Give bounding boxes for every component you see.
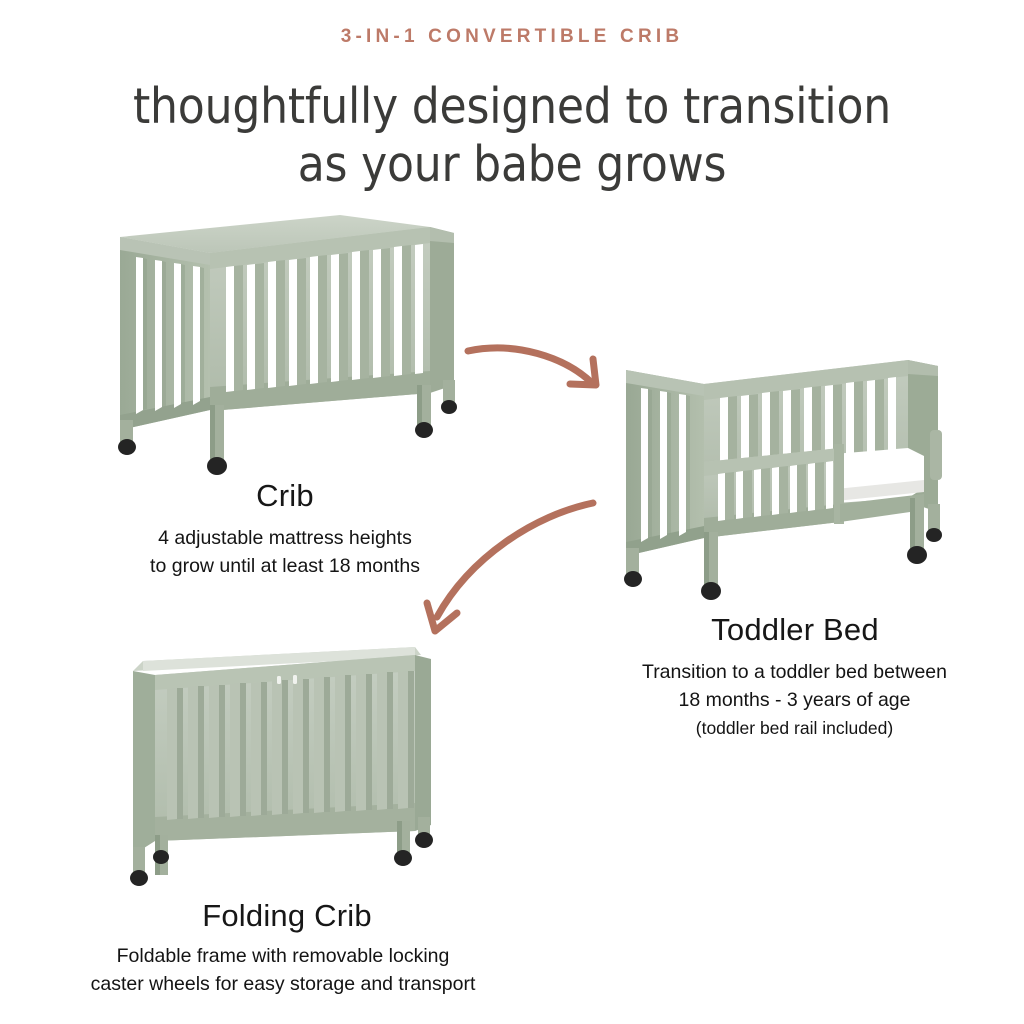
crib-description: 4 adjustable mattress heights to grow un… bbox=[85, 524, 485, 580]
arrow-crib-to-toddler bbox=[460, 325, 630, 400]
crib-description-line-2: to grow until at least 18 months bbox=[85, 552, 485, 580]
folding-crib-illustration bbox=[115, 645, 445, 890]
eyebrow-label: 3-IN-1 CONVERTIBLE CRIB bbox=[0, 26, 1024, 48]
folding-crib-description-line-2: caster wheels for easy storage and trans… bbox=[38, 970, 528, 998]
toddler-left-panel bbox=[626, 370, 704, 556]
folding-crib-title: Folding Crib bbox=[112, 898, 462, 934]
crib-right-panel bbox=[430, 227, 454, 393]
page-title: thoughtfully designed to transition as y… bbox=[0, 78, 1024, 194]
folding-right-side bbox=[415, 655, 431, 831]
folding-crib-description-line-1: Foldable frame with removable locking bbox=[38, 942, 528, 970]
headline-line-2: as your babe grows bbox=[0, 136, 1024, 194]
crib-description-line-1: 4 adjustable mattress heights bbox=[85, 524, 485, 552]
toddler-bed-title: Toddler Bed bbox=[600, 612, 990, 648]
infographic-canvas: 3-IN-1 CONVERTIBLE CRIB thoughtfully des… bbox=[0, 0, 1024, 1024]
headline-line-1: thoughtfully designed to transition bbox=[133, 78, 891, 135]
folding-face bbox=[155, 655, 415, 841]
toddler-bed-description-line-2: 18 months - 3 years of age bbox=[582, 686, 1007, 714]
folding-crib-description: Foldable frame with removable locking ca… bbox=[38, 942, 528, 998]
crib-illustration bbox=[110, 215, 460, 480]
folding-left-side bbox=[133, 671, 155, 855]
crib-front-panel bbox=[210, 227, 430, 411]
toddler-bed-description: Transition to a toddler bed between 18 m… bbox=[582, 658, 1007, 742]
toddler-bed-illustration bbox=[608, 352, 978, 612]
toddler-bed-description-line-1: Transition to a toddler bed between bbox=[582, 658, 1007, 686]
crib-left-panel bbox=[120, 237, 210, 430]
toddler-bed-note: (toddler bed rail included) bbox=[582, 714, 1007, 742]
crib-title: Crib bbox=[115, 478, 455, 514]
